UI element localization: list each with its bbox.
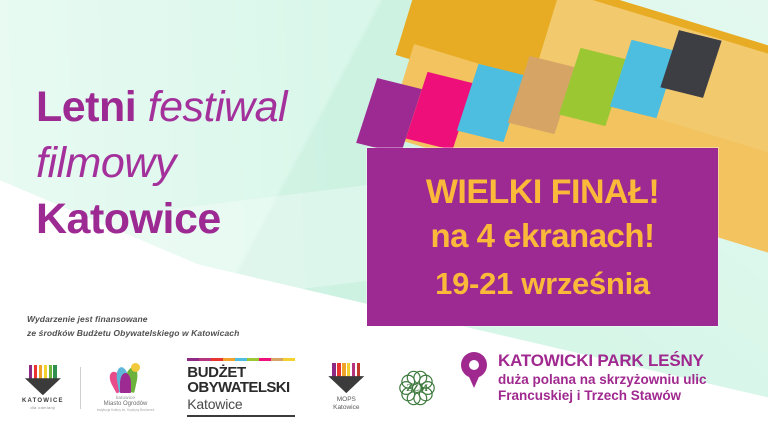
budzet-color-bar <box>187 358 295 361</box>
logo-budzet-obywatelski: BUDŻET OBYWATELSKI Katowice <box>187 358 295 417</box>
title-line3: Katowice <box>36 198 287 241</box>
logo-mo-caption3: Instytucja Kultury im. Krystyny Bochenek <box>97 408 155 412</box>
logo-katowice-caption: KATOWICE <box>22 398 64 404</box>
funding-note-line2: ze środków Budżetu Obywatelskiego w Kato… <box>27 326 239 340</box>
map-pin-icon <box>461 352 487 388</box>
logo-bo-line2: OBYWATELSKI <box>187 380 295 395</box>
logo-zzm: ZZM <box>397 368 437 408</box>
svg-text:ZZM: ZZM <box>406 383 428 394</box>
page-title: Letni festiwal filmowy Katowice <box>36 86 287 241</box>
panel-line3: 19-21 września <box>435 268 650 299</box>
mops-heart-icon <box>328 363 364 393</box>
funding-note: Wydarzenie jest finansowane ze środków B… <box>27 312 239 340</box>
logo-bo-line3: Katowice <box>187 397 295 412</box>
budzet-underline <box>187 415 295 418</box>
poster-canvas: Letni festiwal filmowy Katowice Wydarzen… <box>0 0 768 432</box>
mo-petal-3 <box>120 373 131 393</box>
logo-bo-line1: BUDŻET <box>187 365 295 380</box>
title-line1-bold: Letni <box>36 83 136 131</box>
location-name: KATOWICKI PARK LEŚNY <box>498 352 707 370</box>
logo-mops-caption: MOPS <box>337 396 356 404</box>
logo-katowice-subcaption: dla odmiany <box>30 405 55 410</box>
location-block: KATOWICKI PARK LEŚNY duża polana na skrz… <box>461 352 707 404</box>
mo-petal-4 <box>131 363 140 372</box>
logo-divider <box>80 367 81 409</box>
sponsor-logo-row: KATOWICE dla odmiany katowice Miasto Ogr… <box>22 358 437 417</box>
panel-line2: na 4 ekranach! <box>430 219 654 252</box>
logo-mo-caption2: Miasto Ogrodów <box>104 401 148 407</box>
location-detail-line2: Francuskiej i Trzech Stawów <box>498 388 707 404</box>
funding-note-line1: Wydarzenie jest finansowane <box>27 312 239 326</box>
miasto-ogrodow-petals-icon <box>109 363 143 393</box>
panel-line1: WIELKI FINAŁ! <box>426 175 659 209</box>
logo-katowice: KATOWICE dla odmiany <box>22 365 64 410</box>
title-line1-italic: festiwal <box>148 83 287 131</box>
zzm-flower-icon: ZZM <box>397 368 437 408</box>
location-detail-line1: duża polana na skrzyżowniu ulic <box>498 372 707 388</box>
logo-miasto-ogrodow: katowice Miasto Ogrodów Instytucja Kultu… <box>97 363 155 413</box>
title-line2: filmowy <box>36 142 287 185</box>
katowice-heart-icon <box>25 365 61 395</box>
logo-mops-katowice: MOPS Katowice <box>328 363 364 412</box>
logo-mops-caption2: Katowice <box>333 404 359 412</box>
logo-mo-caption: katowice <box>116 395 135 400</box>
announcement-panel: WIELKI FINAŁ! na 4 ekranach! 19-21 wrześ… <box>367 148 718 326</box>
tile-dark <box>660 30 721 98</box>
